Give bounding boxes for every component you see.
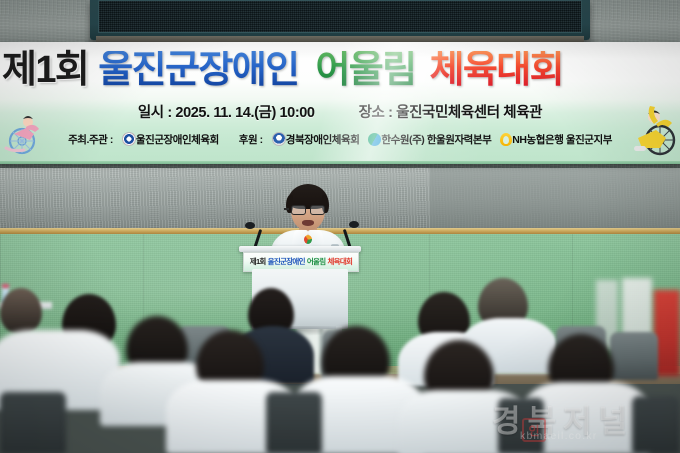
audience-head [0,288,42,334]
event-venue: 장소 : 울진국민체육센터 체육관 [359,101,543,122]
photo-canvas: 제1회 울진군장애인 어울림 체육대회 일시 : 2025. 11. 14.(금… [0,0,680,453]
uljin-sports-emblem-icon [122,132,136,146]
speaker-glasses-bridge [284,208,289,210]
audience-chair [498,398,544,453]
sponsor-nh: NH농협은행 울진군지부 [512,132,612,147]
event-banner: 제1회 울진군장애인 어울림 체육대회 일시 : 2025. 11. 14.(금… [0,42,680,164]
audience-chair [266,392,322,453]
concrete-band-shadow [430,168,680,230]
scoreboard-screen [98,0,582,33]
support-label: 후원 : [239,132,263,147]
banner-sponsor-row: 주최.주관 : 울진군장애인체육회 후원 : 경북장애인체육회 한수원(주) 한… [0,127,680,151]
water-bottle-cap [2,284,9,288]
sponsor-gbpc: 경북장애인체육회 [286,132,360,147]
nh-bank-logo-icon [500,133,512,146]
title-org: 울진군장애인 [98,51,298,89]
title-event: 체육대회 [430,51,563,89]
title-ordinal: 제1회 [2,51,88,89]
speaker-mouth [302,220,314,226]
podium-sign-theme: 어울림 [307,258,326,266]
gbpc-emblem-icon [272,132,286,146]
speaker-lapel-badge [304,235,312,244]
audience-chair [632,396,680,453]
banner-title: 제1회 울진군장애인 어울림 체육대회 [0,44,680,96]
podium-sign-org: 울진군장애인 [268,258,305,266]
podium-sign-ordinal: 제1회 [250,258,266,266]
banner-info-row: 일시 : 2025. 11. 14.(금) 10:00 장소 : 울진국민체육센… [0,98,680,124]
host-label: 주최.주관 : [68,132,113,147]
scoreboard-display [90,0,590,40]
audience-chair [0,392,66,453]
podium-sign-event: 체육대회 [327,258,352,266]
banner-bottom-edge [0,161,680,164]
sponsor-khnp: 한수원(주) 한울원자력본부 [381,132,491,147]
event-datetime: 일시 : 2025. 11. 14.(금) 10:00 [138,101,315,122]
speaker-glasses [291,205,325,214]
audience-chair [610,332,658,380]
khnp-logo-icon [368,133,381,146]
title-theme: 어울림 [315,51,415,89]
microphone-right-head [349,221,359,228]
host-name: 울진군장애인체육회 [136,132,219,147]
microphone-left-head [245,222,255,229]
